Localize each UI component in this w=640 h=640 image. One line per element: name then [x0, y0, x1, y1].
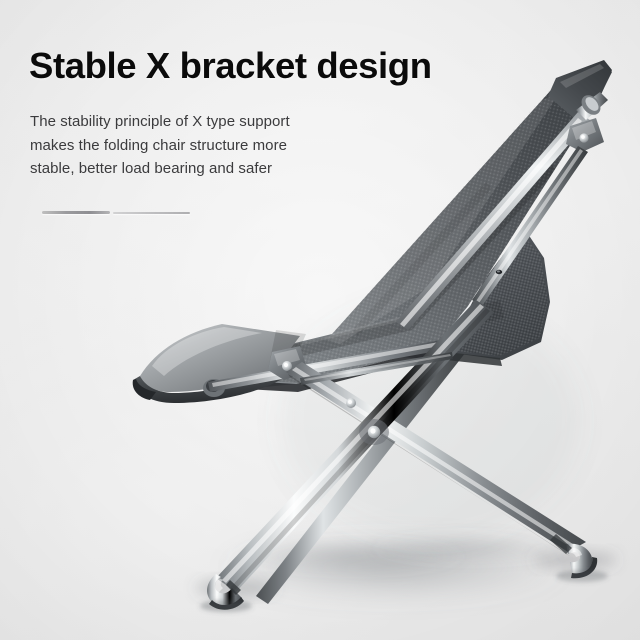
divider-segment-left [42, 211, 110, 214]
body-copy-line-1: The stability principle of X type suppor… [30, 110, 350, 134]
divider-segment-right [113, 212, 190, 215]
product-photo-chair [0, 0, 640, 640]
body-copy-line-3: stable, better load bearing and safer [30, 157, 350, 181]
page-title: Stable X bracket design [29, 47, 432, 86]
product-feature-banner: Stable X bracket design The stability pr… [0, 0, 640, 640]
body-copy: The stability principle of X type suppor… [30, 110, 350, 181]
fabric-stud [496, 270, 502, 274]
body-copy-line-2: makes the folding chair structure more [30, 134, 350, 158]
